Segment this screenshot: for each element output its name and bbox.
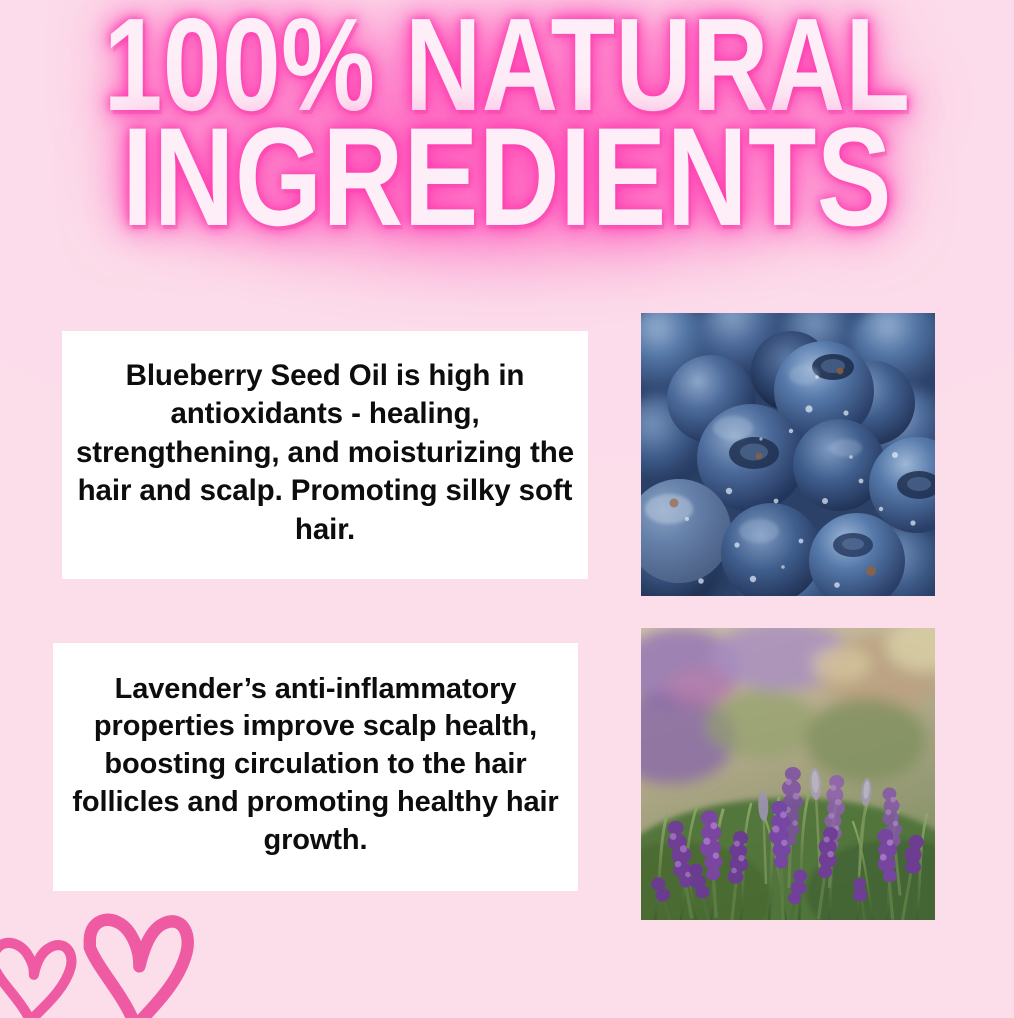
heart-outline-small-icon (0, 926, 78, 1018)
lavender-illustration (641, 628, 935, 920)
headline-line-2: INGREDIENTS (101, 113, 912, 242)
ingredient-card-blueberry: Blueberry Seed Oil is high in antioxidan… (62, 331, 588, 579)
heart-outline-large-icon (78, 905, 196, 1018)
ingredient-description-blueberry: Blueberry Seed Oil is high in antioxidan… (76, 357, 574, 549)
heart-small-glyph (0, 926, 78, 1018)
lavender-photo (641, 628, 935, 920)
ingredient-card-lavender: Lavender’s anti-inflammatory properties … (53, 643, 578, 891)
ingredient-description-lavender: Lavender’s anti-inflammatory properties … (63, 671, 568, 859)
heart-large-glyph (78, 905, 196, 1018)
blueberries-photo (641, 313, 935, 596)
poster-canvas: 100% NATURAL INGREDIENTS Blueberry Seed … (0, 0, 1014, 1018)
blueberries-illustration (641, 313, 935, 596)
headline: 100% NATURAL INGREDIENTS (0, 4, 1014, 242)
